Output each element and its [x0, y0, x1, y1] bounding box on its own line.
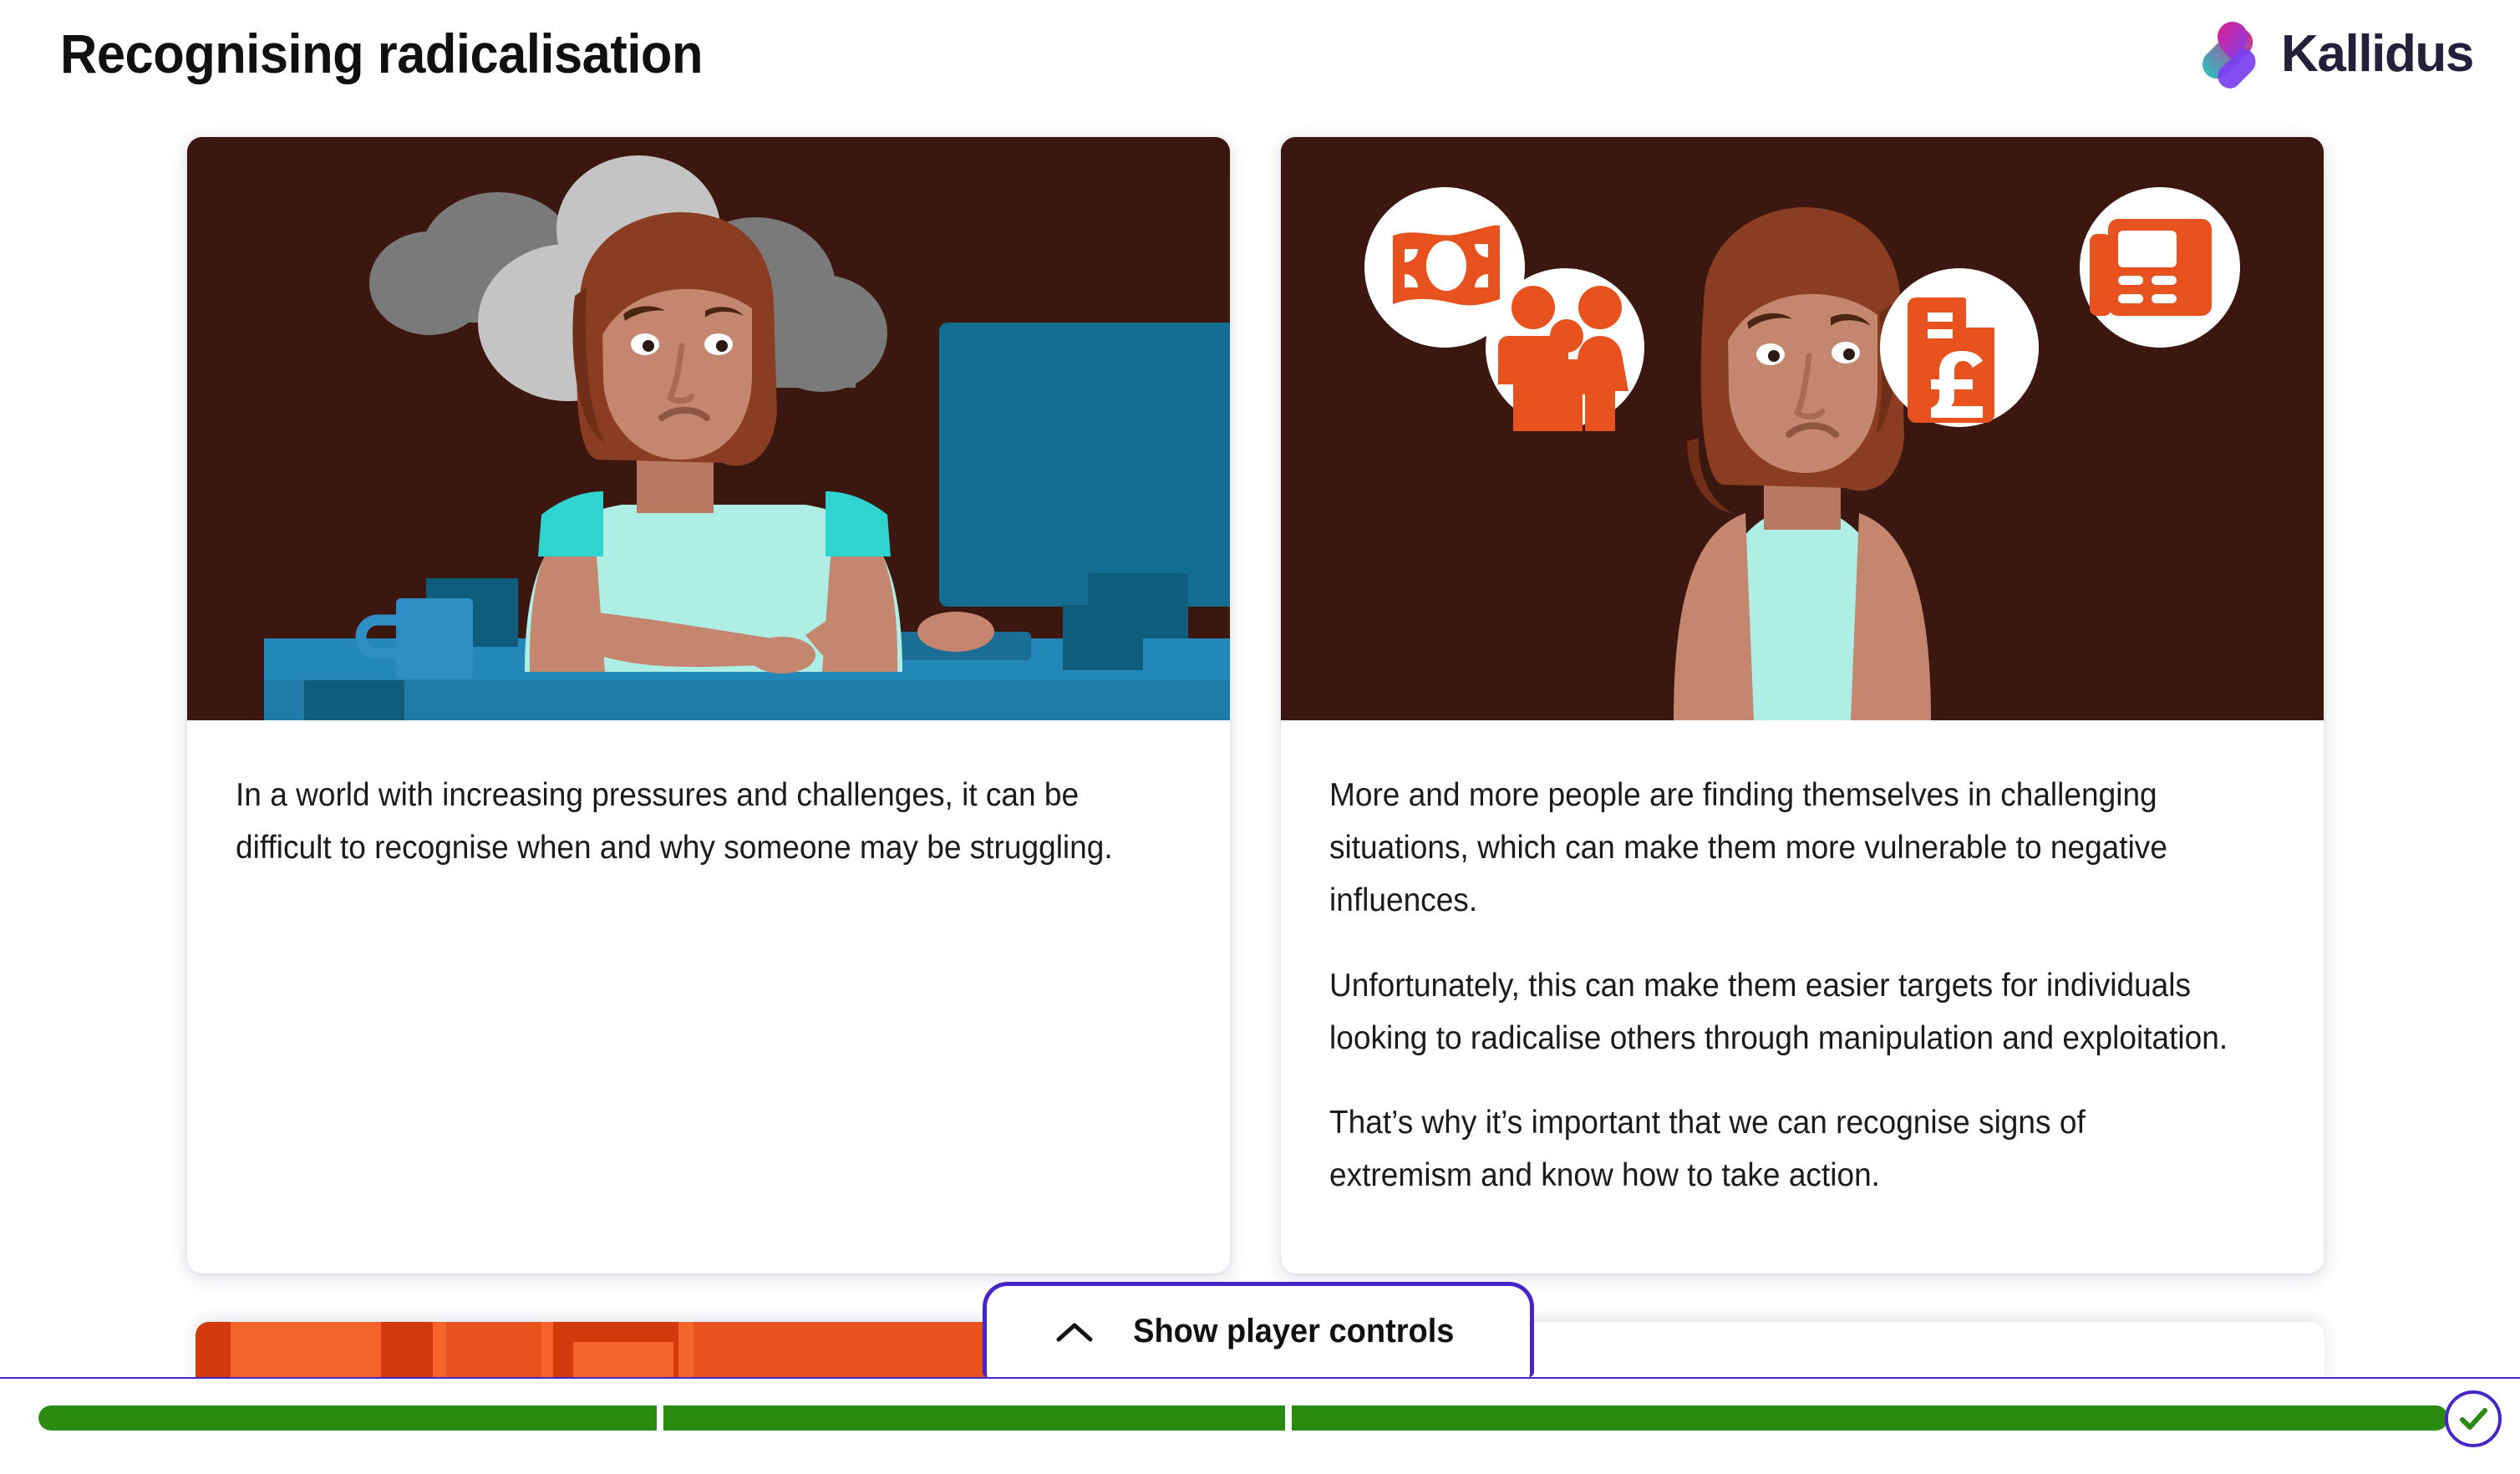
content-card-left: In a world with increasing pressures and… [187, 137, 1230, 1273]
preview-color-segment [433, 1322, 446, 1385]
completion-status-badge[interactable] [2445, 1390, 2502, 1447]
show-player-controls-button[interactable]: Show player controls [983, 1282, 1534, 1377]
card-right-paragraph-2: Unfortunately, this can make them easier… [1329, 959, 2228, 1065]
card-left-paragraph-1: In a world with increasing pressures and… [236, 769, 1134, 874]
course-progress-bar[interactable] [38, 1405, 2448, 1431]
card-right-paragraph-3: That’s why it’s important that we can re… [1329, 1096, 2228, 1202]
preview-color-segment [446, 1322, 541, 1385]
preview-color-segment [196, 1322, 231, 1385]
kallidus-gradient-mark-icon [2199, 18, 2263, 90]
progress-segment[interactable] [663, 1405, 1285, 1431]
course-footer [0, 1377, 2520, 1474]
slide-content: In a world with increasing pressures and… [0, 127, 2520, 1347]
progress-segment[interactable] [38, 1405, 657, 1431]
stressed-person-at-desk-illustration [187, 137, 1230, 720]
preview-color-segment [678, 1322, 694, 1385]
slide-root: Recognising radicalisation [0, 0, 2520, 1474]
card-left-body: In a world with increasing pressures and… [187, 720, 1230, 907]
show-player-controls-label: Show player controls [1133, 1313, 1454, 1350]
card-right-body: More and more people are finding themsel… [1281, 720, 2324, 1235]
preview-color-segment [231, 1322, 381, 1385]
preview-color-segment [541, 1322, 553, 1385]
worried-person-with-pressure-icons-illustration [1281, 137, 2324, 720]
pound-bill-icon [1880, 268, 2039, 427]
page-header: Recognising radicalisation [0, 0, 2520, 127]
page-title: Recognising radicalisation [60, 22, 703, 85]
kallidus-logo: Kallidus [2199, 18, 2473, 90]
check-icon [2456, 1402, 2490, 1436]
preview-color-segment [381, 1322, 433, 1385]
kallidus-wordmark: Kallidus [2281, 28, 2473, 80]
chevron-up-icon [1054, 1319, 1095, 1344]
progress-segment[interactable] [1292, 1405, 2448, 1431]
card-right-paragraph-1: More and more people are finding themsel… [1329, 769, 2228, 928]
newspaper-icon [2080, 187, 2240, 348]
content-card-right: More and more people are finding themsel… [1281, 137, 2324, 1273]
